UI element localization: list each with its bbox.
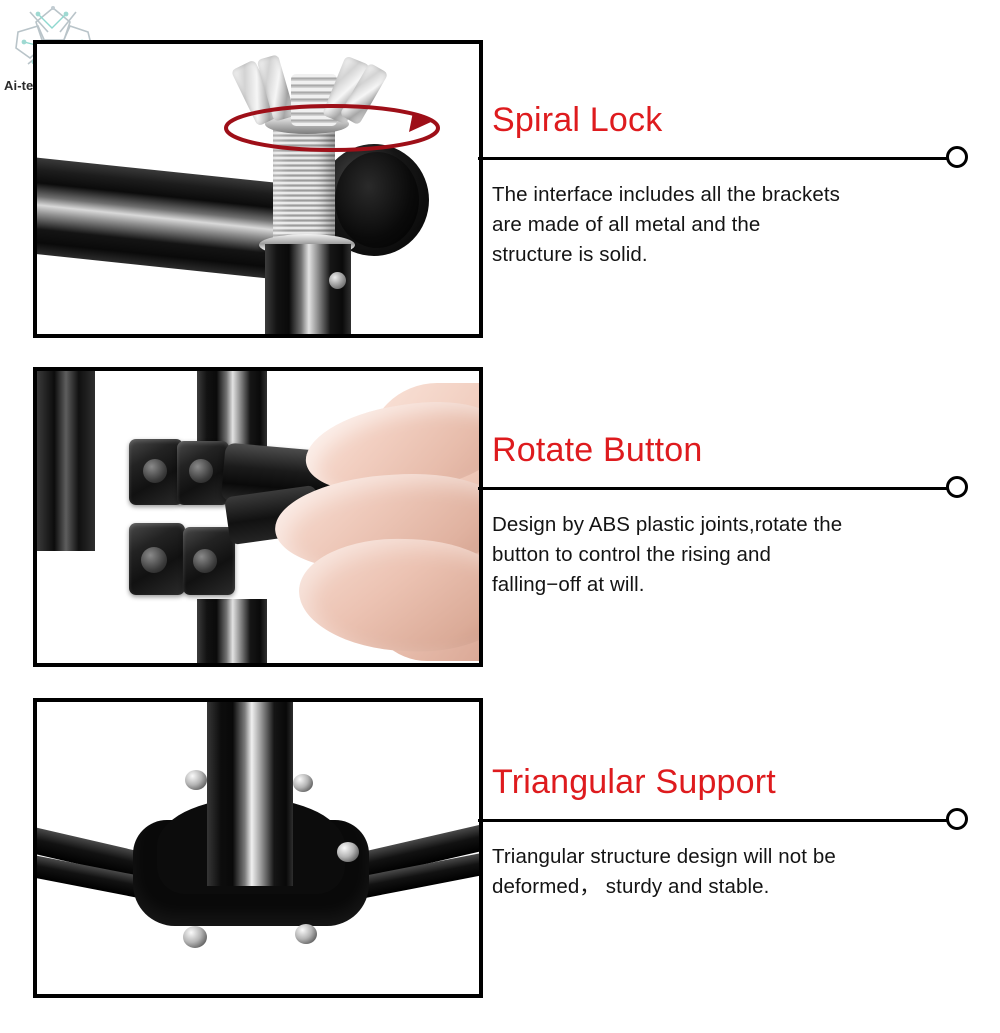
- feature-block-rotate-button: Rotate Button Design by ABS plastic join…: [478, 430, 988, 600]
- feature-body: Design by ABS plastic joints,rotate the …: [492, 510, 962, 600]
- feature-body: Triangular structure design will not be …: [492, 842, 962, 902]
- hub-bolt-1: [185, 770, 207, 790]
- feature-title: Spiral Lock: [492, 100, 988, 140]
- feature-body-line: falling−off at will.: [492, 570, 962, 600]
- feature-body-line: structure is solid.: [492, 240, 962, 270]
- divider-line: [478, 157, 954, 160]
- pole-middle: [37, 371, 95, 551]
- product-photo-rotate-button: [33, 367, 483, 667]
- divider-endpoint-circle-icon: [946, 476, 968, 498]
- feature-title: Triangular Support: [492, 762, 988, 802]
- feature-body-line: The interface includes all the brackets: [492, 180, 962, 210]
- photo-canvas-1: [37, 44, 479, 334]
- lower-tube: [265, 244, 351, 338]
- side-screw: [329, 272, 346, 289]
- photo-canvas-2: [37, 371, 479, 663]
- divider-line: [478, 819, 954, 822]
- hub-bolt-5: [295, 924, 317, 944]
- feature-body-line: are made of all metal and the: [492, 210, 962, 240]
- clamp-bolt-3: [141, 547, 167, 573]
- pole-lower: [197, 599, 267, 667]
- hub-bolt-2: [293, 774, 313, 792]
- divider-line: [478, 487, 954, 490]
- feature-divider: [478, 146, 988, 170]
- infographic-page: Ai-techworld: [0, 0, 1000, 1033]
- hub-bolt-4: [183, 926, 207, 948]
- feature-body: The interface includes all the brackets …: [492, 180, 962, 270]
- clamp-bolt-4: [193, 549, 217, 573]
- pole-upper: [197, 367, 267, 451]
- feature-body-line: button to control the rising and: [492, 540, 962, 570]
- red-rotation-arrow-icon: [217, 88, 447, 160]
- feature-body-line: deformed， sturdy and stable.: [492, 872, 962, 902]
- hub-bolt-3: [337, 842, 359, 862]
- product-photo-spiral-lock: [33, 40, 483, 338]
- feature-divider: [478, 476, 988, 500]
- center-column: [207, 698, 293, 886]
- feature-body-line: Design by ABS plastic joints,rotate the: [492, 510, 962, 540]
- photo-canvas-3: [37, 702, 479, 994]
- feature-block-spiral-lock: Spiral Lock The interface includes all t…: [478, 100, 988, 270]
- clamp-bolt-2: [189, 459, 213, 483]
- clamp-bolt-1: [143, 459, 167, 483]
- divider-endpoint-circle-icon: [946, 808, 968, 830]
- tube-end-inner: [335, 152, 419, 248]
- feature-block-triangular-support: Triangular Support Triangular structure …: [478, 762, 988, 902]
- feature-body-line: Triangular structure design will not be: [492, 842, 962, 872]
- product-photo-triangular-support: [33, 698, 483, 998]
- feature-title: Rotate Button: [492, 430, 988, 470]
- divider-endpoint-circle-icon: [946, 146, 968, 168]
- feature-divider: [478, 808, 988, 832]
